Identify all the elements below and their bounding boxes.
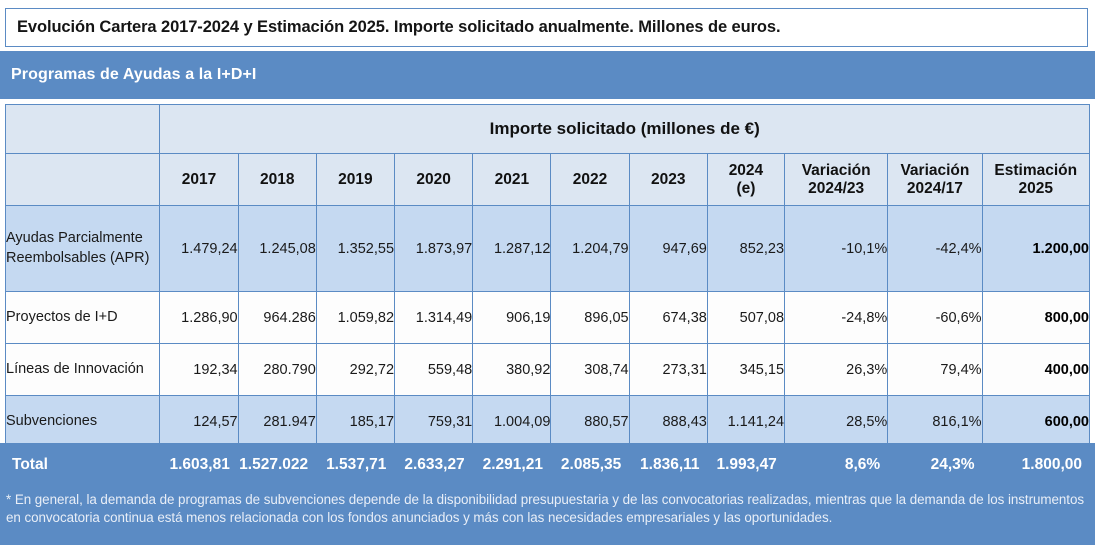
total-2020: 2.633,27 <box>394 443 472 487</box>
header-group-importe-solicitado: Importe solicitado (millones de €) <box>160 105 1090 154</box>
cell-2018: 964.286 <box>238 292 316 344</box>
report-title-bar: Evolución Cartera 2017-2024 y Estimación… <box>5 8 1088 47</box>
column-header-estimacion-2025-line1: Estimación <box>983 162 1089 180</box>
row-label: Proyectos de I+D <box>6 292 160 344</box>
cell-estimacion-2025: 600,00 <box>982 396 1089 448</box>
cell-2024e: 852,23 <box>707 206 784 292</box>
cell-2022: 1.204,79 <box>551 206 629 292</box>
table-row[interactable]: Proyectos de I+D 1.286,90 964.286 1.059,… <box>6 292 1090 344</box>
total-row-band: Total 1.603,81 1.527.022 1.537,71 2.633,… <box>0 443 1095 487</box>
total-label: Total <box>5 443 160 487</box>
column-header-variacion-2024-23-line2: 2024/23 <box>785 180 887 198</box>
table-body: Ayudas Parcialmente Reembolsables (APR) … <box>6 206 1090 448</box>
column-header-2024e-line2: (e) <box>708 180 784 198</box>
total-2021: 2.291,21 <box>473 443 551 487</box>
row-label: Ayudas Parcialmente Reembolsables (APR) <box>6 206 160 292</box>
cell-2023: 273,31 <box>629 344 707 396</box>
column-header-variacion-2024-23-line1: Variación <box>785 162 887 180</box>
cell-variacion-2024-23: 28,5% <box>785 396 888 448</box>
footnote-band: * En general, la demanda de programas de… <box>0 487 1095 545</box>
page-title: Evolución Cartera 2017-2024 y Estimación… <box>17 18 780 37</box>
column-header-variacion-2024-17[interactable]: Variación 2024/17 <box>888 154 982 206</box>
total-2017: 1.603,81 <box>160 443 238 487</box>
section-heading: Programas de Ayudas a la I+D+I <box>11 66 256 84</box>
table-row[interactable]: Ayudas Parcialmente Reembolsables (APR) … <box>6 206 1090 292</box>
column-header-estimacion-2025-line2: 2025 <box>983 180 1089 198</box>
cell-2020: 1.873,97 <box>395 206 473 292</box>
cell-2021: 1.287,12 <box>473 206 551 292</box>
cell-2020: 759,31 <box>395 396 473 448</box>
column-header-2017[interactable]: 2017 <box>160 154 238 206</box>
total-variacion-2024-23: 8,6% <box>785 443 888 487</box>
total-estimacion-2025: 1.800,00 <box>983 443 1090 487</box>
cell-variacion-2024-17: 79,4% <box>888 344 982 396</box>
cell-2024e: 345,15 <box>707 344 784 396</box>
cell-2019: 1.352,55 <box>316 206 394 292</box>
cell-estimacion-2025: 1.200,00 <box>982 206 1089 292</box>
cell-estimacion-2025: 800,00 <box>982 292 1089 344</box>
cell-2021: 906,19 <box>473 292 551 344</box>
column-header-2020[interactable]: 2020 <box>395 154 473 206</box>
total-2018: 1.527.022 <box>238 443 316 487</box>
row-label: Líneas de Innovación <box>6 344 160 396</box>
cell-2018: 281.947 <box>238 396 316 448</box>
report-table-page: Evolución Cartera 2017-2024 y Estimación… <box>0 0 1095 545</box>
cell-2017: 124,57 <box>160 396 238 448</box>
header-rowlabel-cell <box>6 154 160 206</box>
cell-2023: 888,43 <box>629 396 707 448</box>
total-2024e: 1.993,47 <box>708 443 785 487</box>
cell-2017: 192,34 <box>160 344 238 396</box>
cell-2017: 1.479,24 <box>160 206 238 292</box>
section-heading-band: Programas de Ayudas a la I+D+I <box>0 51 1095 99</box>
column-header-variacion-2024-17-line2: 2024/17 <box>888 180 981 198</box>
cell-2023: 674,38 <box>629 292 707 344</box>
cell-2022: 880,57 <box>551 396 629 448</box>
row-label: Subvenciones <box>6 396 160 448</box>
column-header-2019[interactable]: 2019 <box>316 154 394 206</box>
column-header-2021[interactable]: 2021 <box>473 154 551 206</box>
column-header-variacion-2024-17-line1: Variación <box>888 162 981 180</box>
cell-2019: 185,17 <box>316 396 394 448</box>
cell-variacion-2024-17: -60,6% <box>888 292 982 344</box>
column-header-variacion-2024-23[interactable]: Variación 2024/23 <box>785 154 888 206</box>
cell-variacion-2024-23: 26,3% <box>785 344 888 396</box>
total-table: Total 1.603,81 1.527.022 1.537,71 2.633,… <box>5 443 1090 487</box>
cell-variacion-2024-23: -10,1% <box>785 206 888 292</box>
column-header-2023[interactable]: 2023 <box>629 154 707 206</box>
data-table: Importe solicitado (millones de €) 2017 … <box>5 104 1090 448</box>
table-row[interactable]: Subvenciones 124,57 281.947 185,17 759,3… <box>6 396 1090 448</box>
data-table-container: Importe solicitado (millones de €) 2017 … <box>5 104 1090 448</box>
header-corner-cell <box>6 105 160 154</box>
total-2022: 2.085,35 <box>551 443 629 487</box>
cell-2017: 1.286,90 <box>160 292 238 344</box>
column-header-2024e[interactable]: 2024 (e) <box>707 154 784 206</box>
cell-2020: 559,48 <box>395 344 473 396</box>
column-header-estimacion-2025[interactable]: Estimación 2025 <box>982 154 1089 206</box>
cell-2019: 1.059,82 <box>316 292 394 344</box>
total-2023: 1.836,11 <box>629 443 707 487</box>
table-row[interactable]: Líneas de Innovación 192,34 280.790 292,… <box>6 344 1090 396</box>
cell-2020: 1.314,49 <box>395 292 473 344</box>
cell-2018: 1.245,08 <box>238 206 316 292</box>
total-row: Total 1.603,81 1.527.022 1.537,71 2.633,… <box>5 443 1090 487</box>
table-head: Importe solicitado (millones de €) 2017 … <box>6 105 1090 206</box>
cell-2019: 292,72 <box>316 344 394 396</box>
column-header-2018[interactable]: 2018 <box>238 154 316 206</box>
cell-2018: 280.790 <box>238 344 316 396</box>
table-header-group-row: Importe solicitado (millones de €) <box>6 105 1090 154</box>
cell-2021: 1.004,09 <box>473 396 551 448</box>
cell-2022: 896,05 <box>551 292 629 344</box>
cell-estimacion-2025: 400,00 <box>982 344 1089 396</box>
cell-variacion-2024-17: 816,1% <box>888 396 982 448</box>
cell-2024e: 1.141,24 <box>707 396 784 448</box>
cell-2021: 380,92 <box>473 344 551 396</box>
column-header-2024e-line1: 2024 <box>708 162 784 180</box>
total-2019: 1.537,71 <box>316 443 394 487</box>
total-variacion-2024-17: 24,3% <box>888 443 982 487</box>
column-header-2022[interactable]: 2022 <box>551 154 629 206</box>
table-header-row: 2017 2018 2019 2020 2021 2022 2023 2024 … <box>6 154 1090 206</box>
cell-variacion-2024-17: -42,4% <box>888 206 982 292</box>
cell-2023: 947,69 <box>629 206 707 292</box>
cell-2024e: 507,08 <box>707 292 784 344</box>
cell-variacion-2024-23: -24,8% <box>785 292 888 344</box>
footnote-text: * En general, la demanda de programas de… <box>6 491 1087 527</box>
cell-2022: 308,74 <box>551 344 629 396</box>
